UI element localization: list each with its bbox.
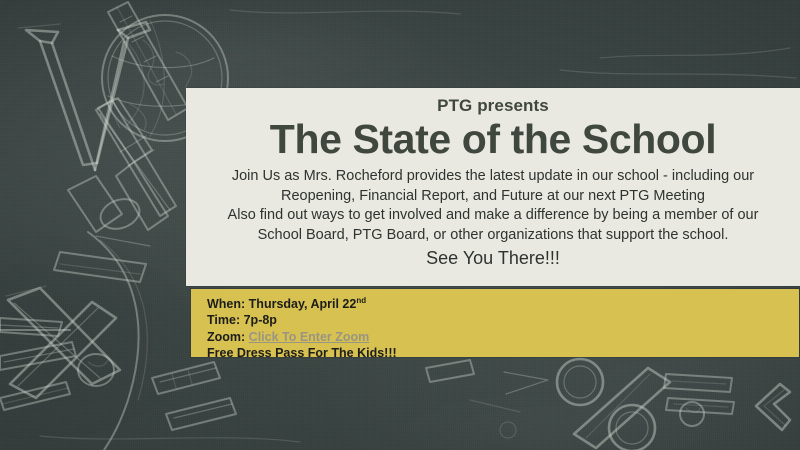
zoom-label: Zoom: xyxy=(207,330,245,344)
chalk-letter-v-icon xyxy=(18,22,150,170)
chalk-swoosh-icon xyxy=(88,232,147,450)
chalk-equals-sign-icon xyxy=(664,374,734,414)
chalk-percent-sign-icon xyxy=(557,359,670,450)
body-line-3: Also find out ways to get involved and m… xyxy=(198,206,788,225)
page-title: The State of the School xyxy=(186,116,800,161)
body-line-2: Reopening, Financial Report, and Future … xyxy=(198,187,788,206)
chalk-letter-x-icon xyxy=(0,286,120,398)
chalk-less-than-sign-icon xyxy=(756,384,790,430)
time-label: Time: xyxy=(207,313,240,327)
event-details-list: When: Thursday, April 22nd Time: 7p-8p Z… xyxy=(191,289,799,362)
time-value: 7p-8p xyxy=(244,313,277,327)
when-label: When: xyxy=(207,297,245,311)
body-line-1: Join Us as Mrs. Rocheford provides the l… xyxy=(198,167,788,186)
main-content-panel: PTG presents The State of the School Joi… xyxy=(186,88,800,286)
body-copy: Join Us as Mrs. Rocheford provides the l… xyxy=(186,161,800,270)
kicker-text: PTG presents xyxy=(186,88,800,116)
detail-row-bonus: Free Dress Pass For The Kids!!! xyxy=(207,345,799,361)
detail-row-zoom: Zoom: Click To Enter Zoom xyxy=(207,329,799,345)
detail-row-time: Time: 7p-8p xyxy=(207,312,799,328)
flyer-canvas: PTG presents The State of the School Joi… xyxy=(0,0,800,450)
zoom-meeting-link[interactable]: Click To Enter Zoom xyxy=(249,330,370,344)
when-value-ordinal-suffix: nd xyxy=(356,296,366,305)
body-line-4: School Board, PTG Board, or other organi… xyxy=(198,226,788,245)
chalk-stroke-marks-icon xyxy=(426,360,548,412)
chalk-ruler-bottom-icon xyxy=(152,362,236,430)
closing-line: See You There!!! xyxy=(198,246,788,270)
event-details-panel: When: Thursday, April 22nd Time: 7p-8p Z… xyxy=(191,289,799,357)
chalk-pencil-fan-icon xyxy=(0,318,114,410)
detail-row-when: When: Thursday, April 22nd xyxy=(207,296,799,312)
when-value: Thursday, April 22 xyxy=(249,297,357,311)
